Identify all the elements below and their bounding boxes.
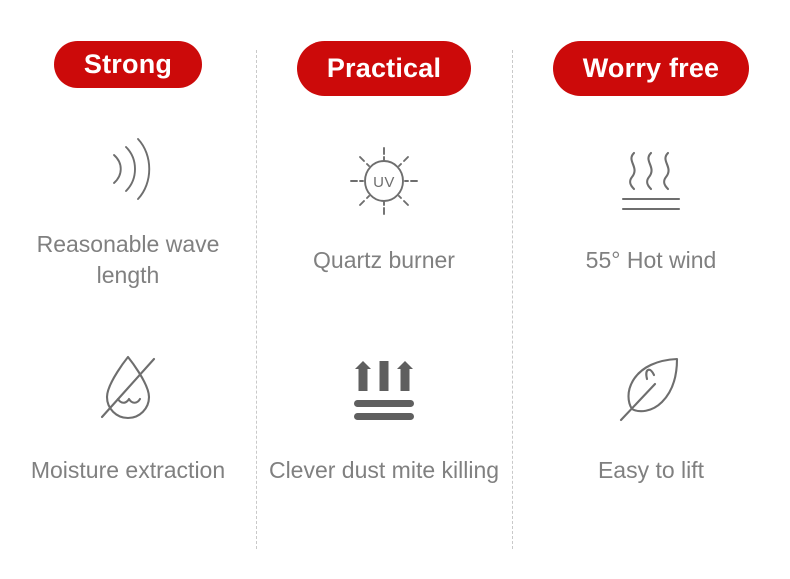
feature-grid: Strong Reasonable wave length Practical …	[0, 0, 790, 579]
badge-strong[interactable]: Strong	[54, 41, 202, 88]
badge-practical[interactable]: Practical	[297, 41, 471, 96]
feature-cell-easy-to-lift: Easy to lift	[512, 290, 790, 579]
uv-icon-label: UV	[373, 174, 395, 191]
feature-cell-strong-wave: Strong Reasonable wave length	[0, 0, 256, 290]
hot-wind-icon	[603, 139, 699, 223]
feature-cell-worryfree-hotwind: Worry free 55° Hot wind	[512, 0, 790, 290]
feature-caption: Quartz burner	[256, 245, 512, 275]
feature-cell-moisture-extraction: Moisture extraction	[0, 290, 256, 579]
wave-signal-icon	[80, 131, 176, 207]
feature-cell-dust-mite-killing: Clever dust mite killing	[256, 290, 512, 579]
no-moisture-droplet-icon	[80, 345, 176, 429]
feature-caption: Easy to lift	[512, 455, 790, 485]
feature-caption: 55° Hot wind	[512, 245, 790, 275]
dust-mite-suction-icon	[336, 345, 432, 429]
feature-caption: Reasonable wave length	[0, 229, 256, 290]
feather-icon	[603, 345, 699, 429]
feature-caption: Moisture extraction	[0, 455, 256, 485]
feature-caption: Clever dust mite killing	[256, 455, 512, 485]
uv-sun-icon: UV	[336, 139, 432, 223]
feature-cell-practical-quartz: Practical UV	[256, 0, 512, 290]
badge-worry-free[interactable]: Worry free	[553, 41, 750, 96]
